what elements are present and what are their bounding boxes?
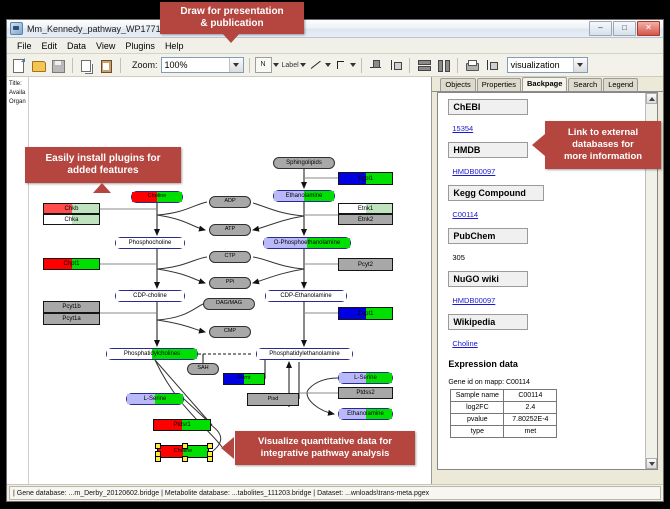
zoom-label: Zoom: [132, 60, 158, 70]
pathway-node-label: Chpt1 [63, 261, 79, 267]
pathway-node-label: Phosphatidylethanolamine [269, 351, 339, 357]
callout-external-db-text: Link to externaldatabases formore inform… [564, 127, 642, 163]
table-row: pvalue 7.80252E-4 [451, 414, 557, 426]
pathway-node-adp[interactable]: ADP [209, 196, 251, 208]
pathway-node-sah[interactable]: SAH [187, 363, 219, 375]
visualization-combobox[interactable]: visualization [507, 57, 588, 73]
pathway-node-label: Cept1 [357, 311, 373, 317]
table-row: Sample name C00114 [451, 390, 557, 402]
selection-handle-5[interactable] [155, 456, 161, 462]
pathway-node-label: Choline [174, 449, 193, 455]
pathway-node-lserine1[interactable]: L-Serine [126, 393, 184, 405]
window-titlebar: Mm_Kennedy_pathway_WP1771_45176.gpml – □… [7, 20, 663, 38]
pathvisio-window: Mm_Kennedy_pathway_WP1771_45176.gpml – □… [6, 19, 664, 502]
pathway-node-label: SAH [197, 366, 208, 372]
db-link-wikipedia[interactable]: Choline [452, 339, 477, 348]
expr-val-type: met [504, 426, 557, 438]
pathway-node-ptdsr1[interactable]: Ptdsr1 [153, 419, 211, 431]
toolbar: Zoom: 100% N Label vis [7, 54, 663, 77]
selection-handle-0[interactable] [155, 443, 161, 449]
pathway-node-label: CMP [224, 329, 236, 335]
visualization-value: visualization [511, 60, 560, 70]
zoom-combobox[interactable]: 100% [161, 57, 244, 73]
tab-search[interactable]: Search [568, 78, 602, 91]
menu-item-file[interactable]: File [12, 40, 37, 52]
db-link-nugo[interactable]: HMDB00097 [452, 296, 495, 305]
callout-plugins-arrow-icon [93, 183, 111, 193]
pathway-node-ethanolamine1[interactable]: Ethanolamine [273, 190, 335, 202]
pathway-node-label: Ethanolamine [286, 193, 323, 199]
close-button[interactable]: ✕ [637, 21, 660, 36]
pathway-node-label: Sphingolipids [286, 160, 322, 166]
chevron-down-icon[interactable] [573, 58, 587, 72]
align-left-button[interactable] [387, 57, 404, 74]
pathway-node-ethanolamine2[interactable]: Ethanolamine [338, 408, 393, 420]
zoom-value: 100% [165, 60, 188, 70]
callout-visualize-arrow-icon [221, 437, 234, 459]
pathway-node-pemt[interactable]: Pemt [223, 373, 265, 385]
line-tool[interactable] [309, 58, 331, 72]
pathway-node-cept1[interactable]: Cept1 [338, 307, 393, 320]
toolbar-separator-2 [120, 58, 121, 73]
app-icon [10, 22, 23, 35]
pathway-node-chkb[interactable]: Chkb [43, 203, 100, 214]
pathway-node-pcyt1a[interactable]: Pcyt1a [43, 313, 100, 325]
pathway-node-sphingolipids[interactable]: Sphingolipids [273, 157, 335, 169]
expr-key-type: type [451, 426, 504, 438]
stack-button[interactable] [415, 57, 432, 74]
minimize-button[interactable]: – [589, 21, 612, 36]
save-icon[interactable] [50, 57, 67, 74]
pathway-node-label: Ethanolamine [347, 411, 384, 417]
toolbar-separator-4 [361, 58, 362, 73]
menu-item-edit[interactable]: Edit [37, 40, 63, 52]
tab-backpage[interactable]: Backpage [522, 77, 567, 91]
pathway-node-choline_top[interactable]: Choline [131, 191, 183, 203]
toolbar-separator-6 [457, 58, 458, 73]
db-link-chebi[interactable]: 15354 [452, 124, 473, 133]
expr-key-sample-name: Sample name [451, 390, 504, 402]
pathway-node-label: Etnk1 [358, 206, 373, 212]
pathway-node-label: ADP [224, 199, 235, 205]
pathway-node-label: PPi [226, 280, 235, 286]
distribute-button[interactable] [435, 57, 452, 74]
callout-visualize: Visualize quantitative data forintegrati… [235, 431, 415, 465]
pathway-node-dagmag[interactable]: DAG/MAG [203, 298, 255, 310]
toolbar-separator-5 [409, 58, 410, 73]
callout-draw-text: Draw for presentation& publication [180, 6, 283, 31]
db-value-pubchem: 305 [452, 253, 465, 262]
pathway-node-label: CDP-Ethanolamine [280, 293, 331, 299]
selection-handle-1[interactable] [182, 443, 188, 449]
pathway-node-ctp[interactable]: CTP [209, 251, 251, 263]
selection-handle-2[interactable] [207, 443, 213, 449]
callout-plugins-text: Easily install plugins foradded features [45, 153, 160, 178]
callout-draw: Draw for presentation& publication [160, 2, 304, 34]
pathway-node-pcyt1b[interactable]: Pcyt1b [43, 301, 100, 313]
pathway-node-label: Pisd [268, 397, 279, 403]
pathway-node-label: DAG/MAG [216, 301, 242, 307]
pathway-node-label: Choline [148, 194, 167, 200]
callout-plugins: Easily install plugins foradded features [25, 147, 181, 183]
expr-val-pvalue: 7.80252E-4 [504, 414, 557, 426]
sidebar-toggle-button[interactable] [483, 57, 500, 74]
chevron-down-icon[interactable] [325, 63, 331, 67]
chevron-down-icon[interactable] [350, 63, 356, 67]
line-icon [309, 58, 324, 72]
db-header-wikipedia: Wikipedia [448, 314, 528, 330]
pathway-node-phosphatidylcholines[interactable]: Phosphatidylcholines [106, 348, 198, 360]
pathway-node-label: Pcyt1b [62, 304, 80, 310]
selection-handle-6[interactable] [182, 456, 188, 462]
pathway-node-ophosphoetham[interactable]: O-Phosphoethanolamine [263, 237, 351, 249]
datanode-icon: N [255, 57, 272, 73]
print-button[interactable] [463, 57, 480, 74]
pathway-node-label: CDP-choline [133, 293, 167, 299]
label-tool-text: Label [282, 62, 299, 69]
selection-handle-7[interactable] [207, 456, 213, 462]
elbow-line-tool[interactable] [334, 58, 356, 72]
tab-properties[interactable]: Properties [477, 78, 521, 91]
pathway-canvas[interactable]: Title: Availa Organ [7, 77, 432, 484]
pathway-node-label: Chkb [64, 206, 78, 212]
pathway-node-etnk1[interactable]: Etnk1 [338, 203, 393, 214]
pathway-node-cdpcholine[interactable]: CDP-choline [115, 290, 185, 302]
menu-item-help[interactable]: Help [160, 40, 189, 52]
pathway-node-label: Pcyt1a [62, 316, 80, 322]
table-row: log2FC 2.4 [451, 402, 557, 414]
elbow-line-icon [334, 58, 349, 72]
pathway-node-label: Phosphatidylcholines [124, 351, 180, 357]
menubar: File Edit Data View Plugins Help [7, 38, 663, 54]
db-header-hmdb: HMDB [448, 142, 528, 158]
open-folder-icon[interactable] [30, 57, 47, 74]
pathway-node-atp[interactable]: ATP [209, 224, 251, 236]
chevron-down-icon[interactable] [229, 58, 243, 72]
db-link-hmdb[interactable]: HMDB00097 [452, 167, 495, 176]
pathway-node-label: Ptdsr1 [173, 422, 190, 428]
pathway-node-label: L-Serine [144, 396, 167, 402]
pathway-node-label: Phosphocholine [129, 240, 172, 246]
pathway-node-chpt1[interactable]: Chpt1 [43, 258, 100, 270]
chevron-down-icon[interactable] [300, 63, 306, 67]
menu-item-view[interactable]: View [91, 40, 120, 52]
callout-visualize-text: Visualize quantitative data forintegrati… [258, 436, 392, 460]
pathway-node-lserine2[interactable]: L-Serine [338, 372, 393, 384]
new-file-icon[interactable] [10, 57, 27, 74]
pathway-node-phosphatidylethanolamine[interactable]: Phosphatidylethanolamine [256, 348, 353, 360]
gene-id-on-mapp: Gene id on mapp: C00114 [448, 379, 643, 386]
pathway-node-phosphocholine[interactable]: Phosphocholine [115, 237, 185, 249]
callout-draw-arrow-icon [222, 33, 240, 43]
pathway-node-choline_sel[interactable]: Choline [157, 445, 209, 458]
pathway-node-cmp[interactable]: CMP [209, 326, 251, 338]
scroll-up-icon[interactable] [646, 93, 657, 104]
db-link-kegg[interactable]: C00114 [452, 210, 478, 219]
tab-legend[interactable]: Legend [603, 78, 638, 91]
maximize-button[interactable]: □ [613, 21, 636, 36]
status-bar-text: | Gene database: ...m_Derby_20120602.bri… [9, 486, 661, 500]
pathway-node-chka[interactable]: Chka [43, 214, 100, 225]
db-header-nugo: NuGO wiki [448, 271, 528, 287]
expression-table: Sample name C00114 log2FC 2.4 pvalue 7.8… [450, 389, 557, 438]
toolbar-separator-1 [72, 58, 73, 73]
pathway-node-sgpl1[interactable]: Sgpl1 [338, 172, 393, 185]
pathway-node-label: L-Serine [354, 375, 377, 381]
pathway-node-label: Pcyt2 [358, 262, 373, 268]
menu-item-data[interactable]: Data [62, 40, 91, 52]
pathway-node-label: Ptdss2 [356, 390, 374, 396]
pathway-node-ptdss2[interactable]: Ptdss2 [338, 387, 393, 399]
callout-external-db: Link to externaldatabases formore inform… [545, 121, 661, 169]
db-header-pubchem: PubChem [448, 228, 528, 244]
datanode-tool[interactable]: N [255, 57, 279, 73]
menu-item-plugins[interactable]: Plugins [120, 40, 160, 52]
chevron-down-icon[interactable] [273, 63, 279, 67]
pathway-node-label: Chka [64, 217, 78, 223]
toolbar-separator-3 [249, 58, 250, 73]
callout-external-db-arrow-icon [532, 134, 545, 156]
expression-data-heading: Expression data [448, 359, 643, 369]
align-button[interactable] [367, 57, 384, 74]
status-bar: | Gene database: ...m_Derby_20120602.bri… [7, 484, 663, 501]
scroll-down-icon[interactable] [646, 458, 657, 469]
copy-icon[interactable] [78, 57, 95, 74]
label-tool[interactable]: Label [282, 62, 306, 69]
pathway-node-label: ATP [225, 227, 235, 233]
table-row: type met [451, 426, 557, 438]
pathway-node-pisd[interactable]: Pisd [247, 393, 299, 406]
pathway-node-etnk2[interactable]: Etnk2 [338, 214, 393, 225]
expr-key-pvalue: pvalue [451, 414, 504, 426]
expr-val-log2fc: 2.4 [504, 402, 557, 414]
pathway-node-cdpethanolamine[interactable]: CDP-Ethanolamine [265, 290, 347, 302]
pathway-node-label: Pemt [238, 376, 251, 382]
pathway-node-label: Etnk2 [358, 217, 373, 223]
window-controls: – □ ✕ [589, 21, 660, 36]
db-header-kegg: Kegg Compound [448, 185, 544, 201]
pathway-node-label: O-Phosphoethanolamine [274, 240, 340, 246]
expr-val-sample-name: C00114 [504, 390, 557, 402]
paste-icon[interactable] [98, 57, 115, 74]
db-header-chebi: ChEBI [448, 99, 528, 115]
pathway-node-label: CTP [225, 254, 236, 260]
pathway-node-label: Sgpl1 [358, 176, 373, 182]
pathway-node-pcyt2[interactable]: Pcyt2 [338, 258, 393, 271]
pathway-node-ppi[interactable]: PPi [209, 277, 251, 289]
tab-objects[interactable]: Objects [440, 78, 475, 91]
expr-key-log2fc: log2FC [451, 402, 504, 414]
sidebar-tabs: Objects Properties Backpage Search Legen… [432, 77, 663, 92]
